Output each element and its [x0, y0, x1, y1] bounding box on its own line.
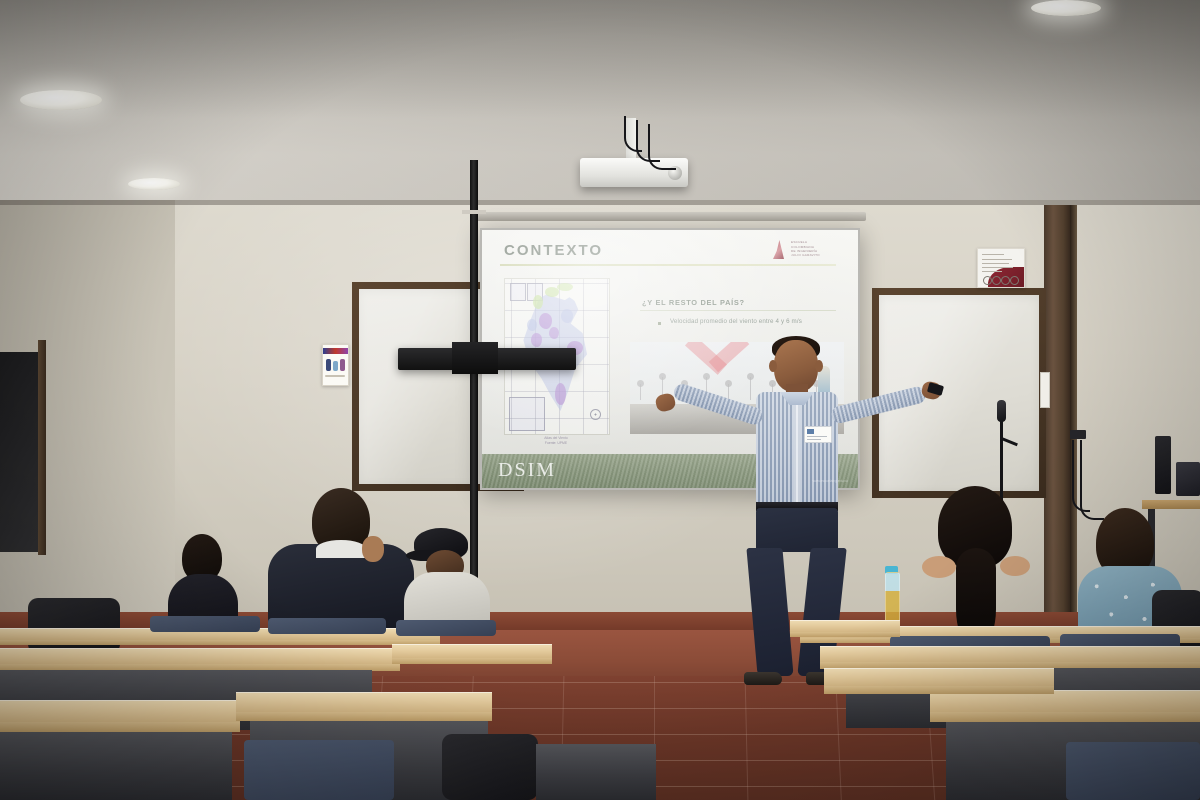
desk-edge: [392, 658, 552, 664]
desk-modesty-panel: [0, 732, 232, 800]
map-legend: [509, 397, 545, 431]
microphone: [997, 400, 1006, 422]
desk-edge: [0, 640, 440, 645]
logo-text: ESCUELA COLOMBIANA DE INGENIERÍA JULIO G…: [791, 240, 820, 258]
logo-line-4: JULIO GARAVITO: [791, 253, 820, 257]
slide-title-rule: [500, 264, 836, 266]
ceiling-light-2: [128, 178, 180, 190]
sign-pictogram-icon: [1001, 276, 1010, 285]
map-wind-zone: [539, 313, 552, 329]
wall-remote-holder: [1040, 372, 1050, 408]
backpack-floor: [442, 734, 538, 800]
dsim-logo: DSIM: [498, 459, 556, 482]
presenter-left-shoe: [744, 672, 782, 685]
desk-panel-center: [536, 744, 656, 800]
desk-edge: [0, 722, 240, 732]
poster-figure: [340, 359, 345, 371]
chair-back-left-2: [268, 618, 386, 634]
presenter-ear: [769, 360, 777, 372]
ceiling-light-1: [20, 90, 102, 110]
student-collar: [316, 540, 366, 558]
desk-surface: [236, 692, 492, 712]
desk-surface: [820, 646, 1200, 662]
presenter-shirt-placket: [794, 398, 800, 502]
sign-text-line: [982, 254, 1004, 255]
desk-surface: [824, 668, 1054, 686]
presenter-ear: [815, 360, 823, 372]
map-wind-zone: [557, 283, 573, 291]
slide-footer-url: www.escuelaing.edu.co: [813, 479, 848, 483]
floor-tile-line: [835, 676, 842, 800]
desk-edge: [930, 712, 1200, 722]
sign-pictogram-icon: [992, 276, 1001, 285]
student-right-1: [908, 486, 1044, 642]
chair-front-left: [244, 740, 394, 800]
student-left-2: [268, 488, 414, 634]
wall-ceiling-joint: [0, 200, 1200, 205]
presenter-left-leg: [746, 548, 793, 676]
sign-pictogram-icon: [983, 276, 992, 285]
desk-surface: [790, 620, 900, 632]
slide-question-heading: ¿Y EL RESTO DEL PAÍS?: [642, 298, 745, 307]
floor-tile-line: [745, 676, 749, 800]
map-wind-zone: [527, 319, 537, 331]
left-doorway: [0, 352, 40, 552]
map-inset-box: [510, 283, 526, 301]
badge-text-line: [807, 436, 827, 437]
desk-surface: [0, 700, 240, 722]
sign-pictogram-icon: [1010, 276, 1019, 285]
computer-monitor: [1155, 436, 1171, 494]
desk-surface: [0, 648, 400, 664]
sign-text-line: [982, 259, 1012, 260]
chair-front-right: [1066, 742, 1200, 800]
presenter-left-arm: [672, 382, 765, 427]
student-shoulder: [1000, 556, 1030, 576]
backpack-left: [28, 598, 120, 654]
sign-text-line: [982, 263, 1009, 264]
right-pillar-edge: [1070, 205, 1077, 635]
sign-text-line: [982, 267, 1013, 268]
safety-sign: [977, 248, 1025, 288]
map-wind-zone: [561, 309, 573, 323]
student-shoulder: [922, 556, 956, 578]
student-hand: [362, 536, 384, 562]
wall-outlet: [1070, 430, 1086, 439]
slide-question-rule: [640, 310, 836, 311]
map-wind-zone: [533, 295, 543, 309]
chair-back-left-1: [150, 616, 260, 632]
pole-ceiling-bracket: [462, 210, 486, 214]
poster-figure: [333, 361, 338, 371]
badge-logo-icon: [807, 429, 814, 434]
projector-cable: [648, 124, 676, 170]
desk-edge: [790, 632, 900, 637]
map-caption-line-2: Fuente: UPME: [504, 441, 608, 446]
presenter-torso: [756, 392, 838, 506]
presenter-name-badge: [804, 426, 832, 443]
map-gridline: [607, 279, 608, 434]
map-wind-zone: [549, 327, 559, 339]
desk-surface: [392, 644, 552, 658]
logo-mark-icon: [770, 238, 788, 260]
map-wind-zone: [531, 333, 542, 347]
presenter-right-arm: [830, 385, 927, 425]
poster-figure: [326, 359, 331, 371]
map-wind-zone: [555, 383, 566, 405]
bullet-marker-icon: [658, 322, 661, 325]
wall-poster: [322, 344, 349, 386]
badge-text-line: [807, 439, 821, 440]
wind-turbine-rotor-icon: [637, 380, 644, 387]
desk-edge: [236, 712, 492, 721]
slide-title: CONTEXTO: [504, 242, 603, 259]
classroom-scene: CONTEXTO ESCUELA COLOMBIANA DE INGENIERÍ…: [0, 0, 1200, 800]
left-door-frame: [38, 340, 46, 555]
right-pillar: [1044, 205, 1070, 635]
presenter-hips: [756, 508, 838, 552]
map-gridline: [505, 283, 609, 284]
sign-text-line: [982, 271, 1002, 272]
desk-edge: [824, 686, 1054, 694]
compass-rose-icon: [590, 409, 601, 420]
slide-bullet-text: Velocidad promedio del viento entre 4 y …: [670, 318, 802, 325]
screen-roller-housing: [476, 212, 866, 221]
map-caption: Atlas del Viento Fuente: UPME: [504, 436, 608, 445]
poster-text-line: [325, 375, 345, 377]
ceiling-light-3: [1031, 0, 1101, 16]
soundbar-mount-bracket: [452, 342, 498, 374]
chair-back-left-3: [396, 620, 496, 636]
institution-logo: ESCUELA COLOMBIANA DE INGENIERÍA JULIO G…: [770, 236, 848, 262]
poster-title-band: [323, 348, 348, 354]
laptop: [1176, 462, 1200, 496]
student-left-3: [404, 528, 490, 634]
